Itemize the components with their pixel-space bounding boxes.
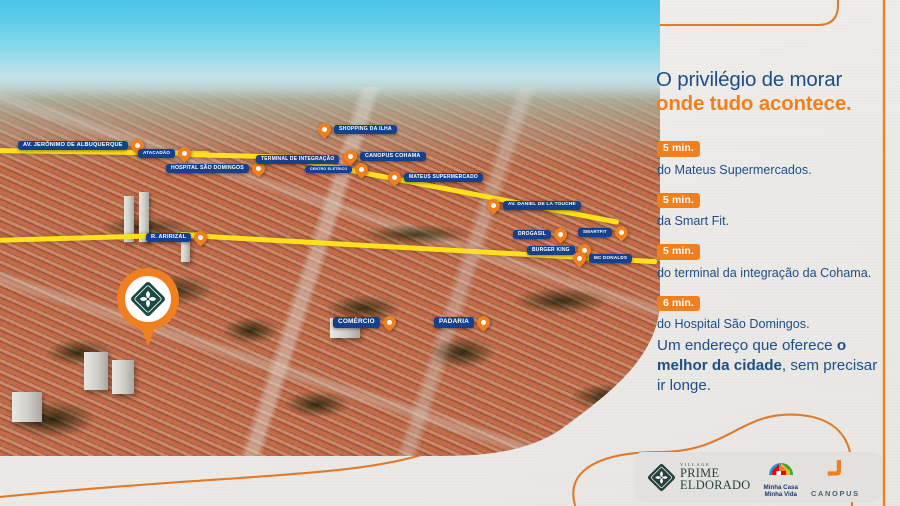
map-label[interactable]: MC DONALDS <box>589 254 632 263</box>
map-poi[interactable]: CANOPUS COHAMA <box>344 150 426 163</box>
map-pin-icon[interactable] <box>551 225 569 243</box>
map-pin-icon[interactable] <box>484 196 502 214</box>
logo-minha-casa-minha-vida: Minha Casa Minha Vida <box>764 456 798 499</box>
mcmv-line2: Minha Vida <box>764 491 797 498</box>
prime-eldorado-location-pin[interactable] <box>117 268 179 346</box>
map-poi[interactable]: PADARIA <box>434 316 490 329</box>
map-poi[interactable]: MATEUS SUPERMERCADO <box>388 171 483 184</box>
map-pin-icon[interactable] <box>474 313 492 331</box>
prime-eldorado-line2: ELDORADO <box>680 479 751 491</box>
map-label[interactable]: COMÉRCIO <box>333 317 380 327</box>
map-label[interactable]: SMARTFIT <box>578 228 612 236</box>
content-panel: O privilégio de morar onde tudo acontece… <box>636 0 900 506</box>
map-poi[interactable]: CENTRO ELÉTRICO <box>305 163 368 176</box>
clover-diamond-emblem <box>131 282 165 316</box>
map-label[interactable]: MATEUS SUPERMERCADO <box>404 173 483 182</box>
map-poi[interactable]: COMÉRCIO <box>333 316 396 329</box>
benefit-item: 5 min.da Smart Fit. <box>657 190 895 230</box>
closing-statement: Um endereço que oferece o melhor da cida… <box>657 336 887 395</box>
building-block <box>112 360 134 394</box>
canopus-c-icon <box>823 457 847 481</box>
map-pin-icon[interactable] <box>612 223 630 241</box>
map-poi[interactable]: MC DONALDS <box>573 252 632 265</box>
map-pin-icon[interactable] <box>176 144 194 162</box>
logo-prime-eldorado: VILLAGE PRIME ELDORADO <box>648 463 751 491</box>
benefit-time-badge: 6 min. <box>657 296 700 312</box>
map-label[interactable]: AV. JERÔNIMO DE ALBUQUERQUE <box>18 141 128 151</box>
map-poi[interactable]: SMARTFIT <box>578 226 628 239</box>
benefit-description: do terminal da integração da Cohama. <box>657 265 895 281</box>
building-block <box>84 352 108 390</box>
clover-diamond-emblem <box>648 464 675 491</box>
map-label[interactable]: PADARIA <box>434 317 474 327</box>
map-label[interactable]: CANOPUS COHAMA <box>360 152 426 161</box>
canopus-wordmark: CANOPUS <box>811 489 860 498</box>
mcmv-wordmark: Minha Casa Minha Vida <box>764 484 798 499</box>
benefits-list: 5 min.do Mateus Supermercados.5 min.da S… <box>657 138 895 344</box>
benefit-time-badge: 5 min. <box>657 141 700 157</box>
pin-emblem-disc <box>125 276 171 322</box>
closing-part-1: Um endereço que oferece <box>657 337 837 354</box>
map-pin-icon[interactable] <box>353 160 371 178</box>
benefit-item: 6 min.do Hospital São Domingos. <box>657 293 895 333</box>
map-label[interactable]: CENTRO ELÉTRICO <box>305 166 352 174</box>
map-label[interactable]: BURGER KING <box>527 246 575 255</box>
map-pin-icon[interactable] <box>380 313 398 331</box>
benefit-item: 5 min.do terminal da integração da Coham… <box>657 241 895 281</box>
logo-bar: VILLAGE PRIME ELDORADO Minha Casa Minha … <box>634 452 882 502</box>
page-title: O privilégio de morar onde tudo acontece… <box>656 68 896 116</box>
map-poi[interactable]: SHOPPING DA ILHA <box>318 123 397 136</box>
benefit-description: do Hospital São Domingos. <box>657 316 895 332</box>
map-poi[interactable]: DROGASIL <box>513 228 567 241</box>
map-pin-icon[interactable] <box>192 228 210 246</box>
poster-canvas: AV. JERÔNIMO DE ALBUQUERQUEATACADÃOSHOPP… <box>0 0 900 506</box>
house-arc-icon <box>766 456 796 477</box>
map-pin-icon[interactable] <box>385 168 403 186</box>
map-pin-icon[interactable] <box>570 249 588 267</box>
map-poi[interactable]: R. ARIRIZAL <box>146 231 207 244</box>
map-label[interactable]: ATACADÃO <box>138 149 175 158</box>
prime-eldorado-wordmark: VILLAGE PRIME ELDORADO <box>680 463 751 491</box>
map-label[interactable]: HOSPITAL SÃO DOMINGOS <box>166 164 249 173</box>
headline-line-1: O privilégio de morar <box>656 68 842 91</box>
mcmv-line1: Minha Casa <box>764 484 798 491</box>
map-pin-icon[interactable] <box>315 120 333 138</box>
benefit-description: da Smart Fit. <box>657 213 895 229</box>
map-label[interactable]: AV. DANIEL DE LA TOUCHE <box>503 201 581 210</box>
headline-line-2: onde tudo acontece. <box>656 92 896 116</box>
map-poi[interactable]: AV. DANIEL DE LA TOUCHE <box>487 199 581 212</box>
logo-canopus: CANOPUS <box>811 457 860 498</box>
benefit-time-badge: 5 min. <box>657 193 700 209</box>
map-poi[interactable]: AV. JERÔNIMO DE ALBUQUERQUE <box>18 139 144 152</box>
benefit-time-badge: 5 min. <box>657 244 700 260</box>
map-poi[interactable]: HOSPITAL SÃO DOMINGOS <box>166 162 265 175</box>
map-label[interactable]: DROGASIL <box>513 230 551 239</box>
map-label[interactable]: R. ARIRIZAL <box>146 233 191 243</box>
map-label[interactable]: SHOPPING DA ILHA <box>334 125 397 134</box>
benefit-item: 5 min.do Mateus Supermercados. <box>657 138 895 178</box>
map-poi[interactable]: ATACADÃO <box>138 147 191 160</box>
benefit-description: do Mateus Supermercados. <box>657 162 895 178</box>
building-block <box>12 392 42 422</box>
